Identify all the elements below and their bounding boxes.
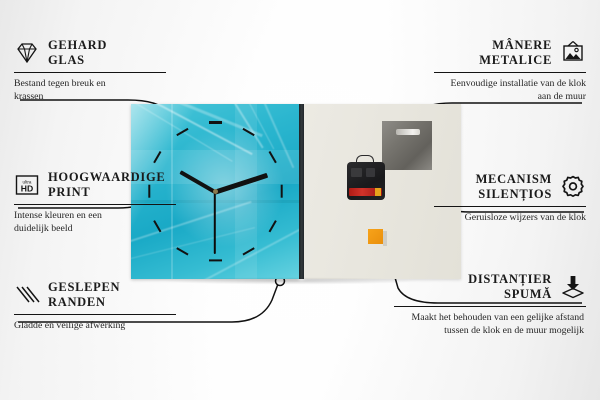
diamond-icon xyxy=(14,40,40,66)
callout-manere-metalice: MÂNERE METALICE Eenvoudige installatie v… xyxy=(426,38,586,103)
callout-title: HOOGWAARDIGE PRINT xyxy=(48,170,165,200)
callout-rule xyxy=(394,306,586,307)
callout-title: MECANISM SILENȚIOS xyxy=(476,172,552,202)
callout-description: Eenvoudige installatie van de klok aan d… xyxy=(440,77,586,103)
clock-glass-edge xyxy=(299,104,304,279)
clock-second-hand xyxy=(214,192,216,254)
infographic-stage: GEHARD GLAS Bestand tegen breuk en krass… xyxy=(0,0,600,400)
ultra-hd-icon: ultra HD xyxy=(14,172,40,198)
callout-description: Bestand tegen breuk en krassen xyxy=(14,77,136,103)
callout-geslepen-randen: GESLEPEN RANDEN Gladde en veilige afwerk… xyxy=(14,280,184,332)
callout-rule xyxy=(434,72,586,73)
callout-description: Maakt het behouden van een gelijke afsta… xyxy=(386,311,584,337)
callout-title: GESLEPEN RANDEN xyxy=(48,280,120,310)
callout-hoogwaardige-print: ultra HD HOOGWAARDIGE PRINT Intense kleu… xyxy=(14,170,184,235)
diagonal-lines-icon xyxy=(14,282,40,308)
callout-rule xyxy=(14,204,176,205)
callout-title: GEHARD GLAS xyxy=(48,38,107,68)
mechanism-dial-left xyxy=(351,168,362,177)
callout-rule xyxy=(434,206,586,207)
callout-description: Gladde en veilige afwerking xyxy=(14,319,174,332)
foam-spacer xyxy=(368,229,383,244)
callout-description: Geruisloze wijzers van de klok xyxy=(440,211,586,224)
framed-picture-hanger-icon xyxy=(560,40,586,66)
callout-distantier-spuma: DISTANȚIER SPUMĂ Maakt het behouden van … xyxy=(386,272,586,337)
arrow-down-layers-icon xyxy=(560,274,586,300)
callout-rule xyxy=(14,72,166,73)
clock-tick xyxy=(209,121,222,123)
callout-title: MÂNERE METALICE xyxy=(479,38,552,68)
callout-title: DISTANȚIER SPUMĂ xyxy=(468,272,552,302)
clock-center-cap xyxy=(213,189,218,194)
callout-mecanism-silentios: MECANISM SILENȚIOS Geruisloze wijzers va… xyxy=(426,172,586,224)
clock-tick xyxy=(280,185,282,198)
svg-text:HD: HD xyxy=(21,183,33,193)
callout-gehard-glas: GEHARD GLAS Bestand tegen breuk en krass… xyxy=(14,38,174,103)
callout-rule xyxy=(14,314,176,315)
clock-tick xyxy=(176,247,188,256)
gear-icon xyxy=(560,174,586,200)
callout-description: Intense kleuren en een duidelijk beeld xyxy=(14,209,132,235)
clock-tick xyxy=(209,259,222,261)
mechanism-dial-right xyxy=(366,168,375,177)
metal-hanger-plate xyxy=(382,121,432,170)
battery xyxy=(349,188,382,196)
